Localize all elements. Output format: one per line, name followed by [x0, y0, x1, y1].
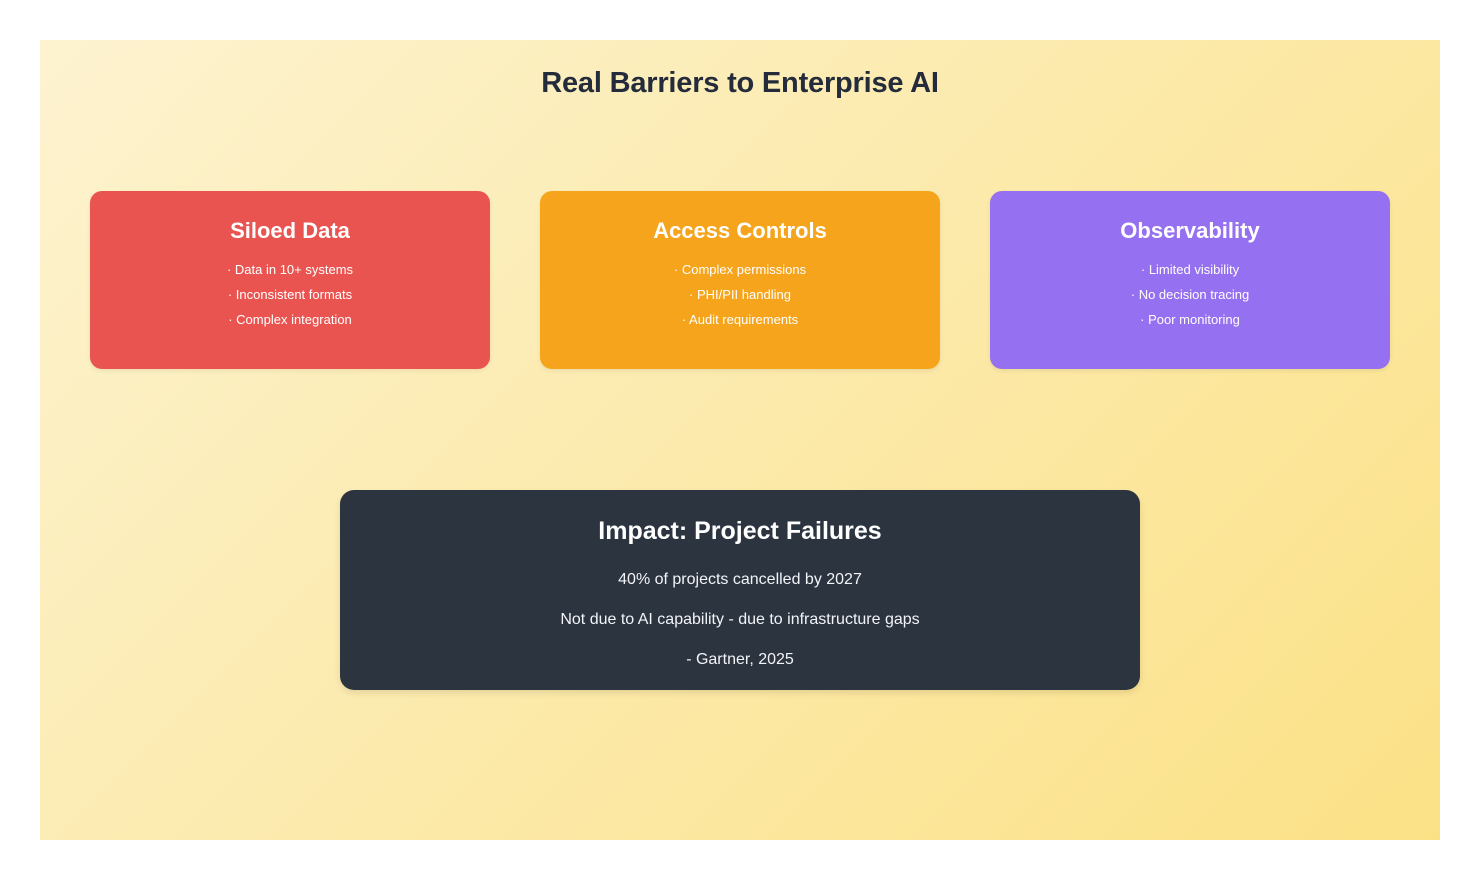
barrier-card-title: Siloed Data — [90, 218, 490, 244]
barrier-card-bullet-list: · Data in 10+ systems · Inconsistent for… — [90, 257, 490, 332]
barrier-bullet: · PHI/PII handling — [540, 282, 940, 307]
barrier-card-bullet-list: · Complex permissions · PHI/PII handling… — [540, 257, 940, 332]
impact-callout-box[interactable]: Impact: Project Failures 40% of projects… — [340, 490, 1140, 690]
barrier-card-title: Observability — [990, 218, 1390, 244]
barrier-bullet: · Complex integration — [90, 307, 490, 332]
page-title: Real Barriers to Enterprise AI — [40, 63, 1440, 103]
barrier-bullet: · Poor monitoring — [990, 307, 1390, 332]
barrier-bullet: · Complex permissions — [540, 257, 940, 282]
impact-explanation-line: Not due to AI capability - due to infras… — [340, 609, 1140, 631]
barrier-bullet: · Audit requirements — [540, 307, 940, 332]
barrier-bullet: · Data in 10+ systems — [90, 257, 490, 282]
impact-title: Impact: Project Failures — [340, 516, 1140, 546]
barrier-cards-row: Siloed Data · Data in 10+ systems · Inco… — [90, 191, 1390, 369]
barrier-card-siloed-data[interactable]: Siloed Data · Data in 10+ systems · Inco… — [90, 191, 490, 369]
impact-statistic-line: 40% of projects cancelled by 2027 — [340, 569, 1140, 591]
impact-source-attribution: - Gartner, 2025 — [340, 649, 1140, 671]
barrier-card-title: Access Controls — [540, 218, 940, 244]
barrier-card-observability[interactable]: Observability · Limited visibility · No … — [990, 191, 1390, 369]
barrier-card-bullet-list: · Limited visibility · No decision traci… — [990, 257, 1390, 332]
barrier-bullet: · Inconsistent formats — [90, 282, 490, 307]
barrier-bullet: · Limited visibility — [990, 257, 1390, 282]
barrier-card-access-controls[interactable]: Access Controls · Complex permissions · … — [540, 191, 940, 369]
barrier-bullet: · No decision tracing — [990, 282, 1390, 307]
slide-panel: Real Barriers to Enterprise AI Siloed Da… — [40, 40, 1440, 840]
